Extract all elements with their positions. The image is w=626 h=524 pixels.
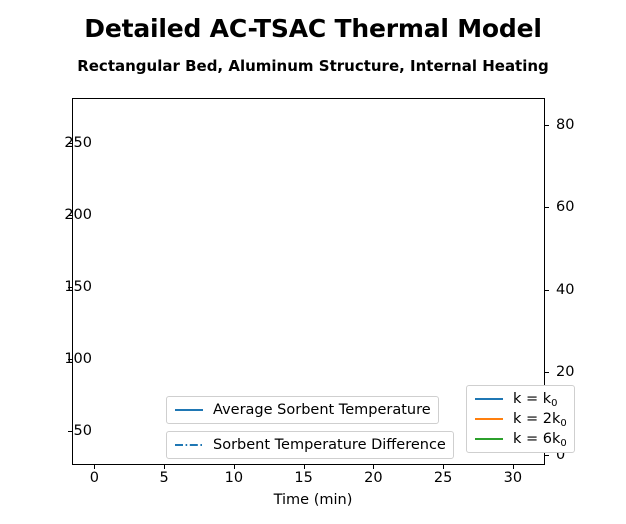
y-tick-label-right: 40 bbox=[556, 282, 574, 298]
y-tick-label-left: 150 bbox=[64, 279, 92, 295]
x-tick-label: 30 bbox=[504, 470, 522, 486]
x-tick-mark bbox=[304, 465, 305, 469]
y-tick-mark-right bbox=[545, 290, 549, 291]
x-tick-mark bbox=[164, 465, 165, 469]
legend-label-2k0-sub: 0 bbox=[560, 418, 566, 429]
x-tick-mark bbox=[373, 465, 374, 469]
legend-item: Sorbent Temperature Difference bbox=[174, 435, 446, 455]
y-tick-mark-right bbox=[545, 125, 549, 126]
page-title: Detailed AC-TSAC Thermal Model bbox=[0, 14, 626, 43]
legend-item: Average Sorbent Temperature bbox=[174, 400, 431, 420]
line-sample-dashdot-icon bbox=[174, 439, 204, 451]
legend-label-k0: k = k0 bbox=[513, 392, 558, 407]
y-tick-mark-right bbox=[545, 455, 549, 456]
y-tick-label-left: 50 bbox=[74, 423, 92, 439]
x-tick-label: 20 bbox=[364, 470, 382, 486]
legend-conductivity[interactable]: k = k0 k = 2k0 k = 6k0 bbox=[466, 385, 575, 453]
line-sample-solid-icon bbox=[174, 404, 204, 416]
legend-label-2k0-main: k = 2k bbox=[513, 411, 560, 427]
legend-temperature-difference[interactable]: Sorbent Temperature Difference bbox=[166, 431, 454, 459]
legend-label-k0-main: k = k bbox=[513, 391, 551, 407]
y-tick-label-right: 80 bbox=[556, 117, 574, 133]
legend-label: Average Sorbent Temperature bbox=[213, 403, 431, 418]
legend-label-2k0: k = 2k0 bbox=[513, 412, 567, 427]
y-tick-label-right: 60 bbox=[556, 199, 574, 215]
legend-label: Sorbent Temperature Difference bbox=[213, 438, 446, 453]
line-sample-orange-icon bbox=[474, 413, 504, 425]
y-tick-label-right: 20 bbox=[556, 364, 574, 380]
legend-label-k0-sub: 0 bbox=[551, 398, 557, 409]
chart-root: Detailed AC-TSAC Thermal Model Rectangul… bbox=[0, 0, 626, 524]
legend-average-temperature[interactable]: Average Sorbent Temperature bbox=[166, 396, 439, 424]
x-tick-mark bbox=[234, 465, 235, 469]
y-tick-label-left: 100 bbox=[64, 351, 92, 367]
y-tick-label-left: 250 bbox=[64, 135, 92, 151]
y-tick-mark-right bbox=[545, 207, 549, 208]
legend-item-6k0: k = 6k0 bbox=[474, 429, 567, 449]
x-tick-label: 5 bbox=[159, 470, 168, 486]
legend-label-6k0-main: k = 6k bbox=[513, 431, 560, 447]
x-axis-label: Time (min) bbox=[0, 492, 626, 508]
legend-label-6k0-sub: 0 bbox=[560, 438, 566, 449]
y-tick-label-left: 200 bbox=[64, 207, 92, 223]
legend-label-6k0: k = 6k0 bbox=[513, 432, 567, 447]
x-tick-label: 15 bbox=[294, 470, 312, 486]
page-subtitle: Rectangular Bed, Aluminum Structure, Int… bbox=[0, 57, 626, 75]
x-tick-label: 10 bbox=[225, 470, 243, 486]
x-tick-label: 25 bbox=[434, 470, 452, 486]
x-tick-mark bbox=[513, 465, 514, 469]
y-tick-mark-right bbox=[545, 372, 549, 373]
legend-item-2k0: k = 2k0 bbox=[474, 409, 567, 429]
y-tick-mark-left bbox=[68, 431, 72, 432]
line-sample-green-icon bbox=[474, 433, 504, 445]
x-tick-label: 0 bbox=[90, 470, 99, 486]
x-tick-mark bbox=[443, 465, 444, 469]
x-tick-mark bbox=[94, 465, 95, 469]
line-sample-blue-icon bbox=[474, 393, 504, 405]
legend-item-k0: k = k0 bbox=[474, 389, 567, 409]
